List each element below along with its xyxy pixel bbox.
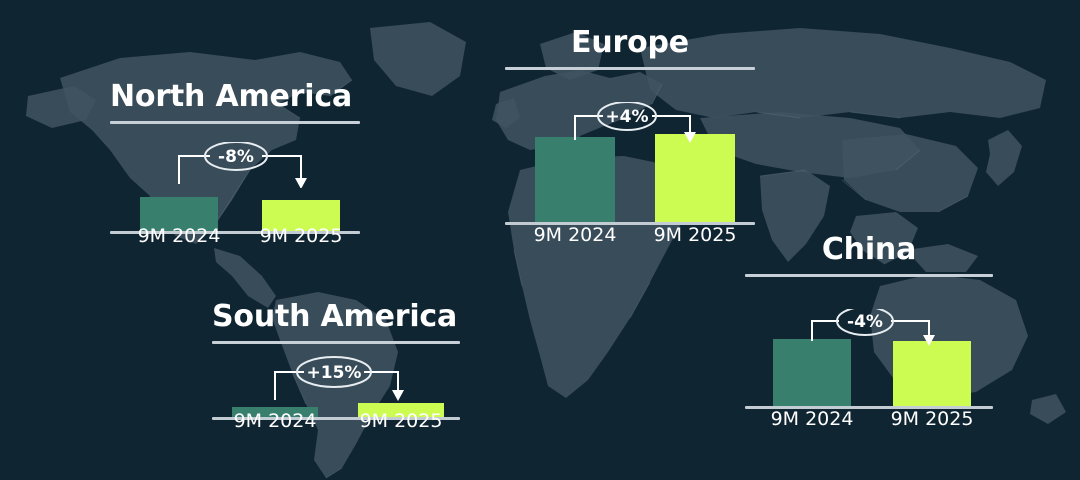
change-badge-label: -4% [835,314,895,331]
infographic-canvas: North America -8% 9M 2024 9M 2025 South … [0,0,1080,480]
region-title: South America [212,302,460,332]
axis-label-9m-2024: 9M 2024 [755,408,869,430]
region-north-america: North America -8% 9M 2024 9M 2025 [110,82,360,234]
axis-label-9m-2024: 9M 2024 [122,225,236,247]
change-badge-label: -8% [205,149,267,166]
region-title: China [745,235,993,265]
bar-9m-2024[interactable] [773,339,851,406]
region-title: Europe [505,28,755,58]
bar-chart-china: -4% [745,277,993,409]
region-south-america: South America +15% 9M 2024 9M 2025 [212,302,460,420]
axis-label-9m-2024: 9M 2024 [518,224,632,246]
region-china: China -4% 9M 2024 9M 2025 [745,235,993,409]
change-badge-label: +4% [597,109,657,126]
axis-label-9m-2025: 9M 2025 [638,224,752,246]
change-badge-label: +15% [297,365,371,382]
bar-chart-south-america: +15% [212,344,460,420]
axis-label-9m-2025: 9M 2025 [344,410,458,432]
region-europe: Europe +4% 9M 2024 9M 2025 [505,28,755,225]
bar-9m-2025[interactable] [893,341,971,406]
axis-label-9m-2024: 9M 2024 [218,410,332,432]
bar-chart-north-america: -8% [110,124,360,234]
bar-9m-2024[interactable] [535,137,615,222]
bar-9m-2025[interactable] [655,134,735,222]
region-title: North America [110,82,360,112]
bar-chart-europe: +4% [505,70,755,225]
axis-label-9m-2025: 9M 2025 [875,408,989,430]
axis-label-9m-2025: 9M 2025 [244,225,358,247]
